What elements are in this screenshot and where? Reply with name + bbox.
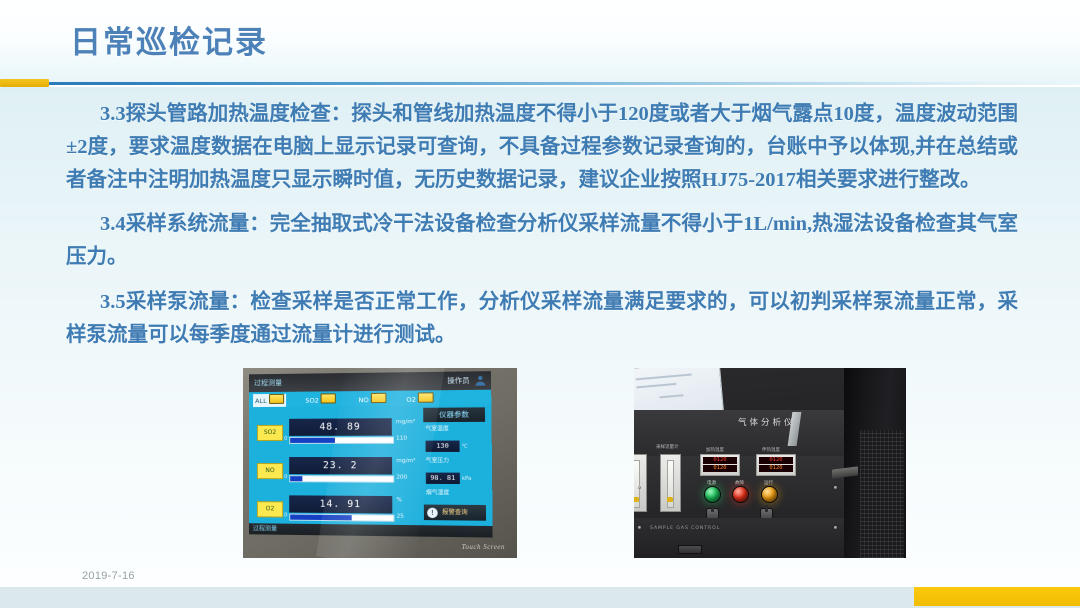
- meter-digits-lower: 0120: [703, 465, 737, 472]
- hmi-tab-all[interactable]: ALL: [253, 394, 286, 407]
- flow-gauge: [634, 454, 647, 512]
- meter-digits-lower: 0120: [759, 465, 793, 472]
- header-divider-blue: [0, 82, 1080, 85]
- cabinet-control-panel: 采样流量计 加热温度 0120 0120 伴热温度 0120 0120 电源 故…: [634, 456, 844, 519]
- gas-tag: O2: [257, 501, 283, 517]
- gas-value: 48. 89: [289, 418, 392, 436]
- hmi-tab-o2[interactable]: O2: [406, 392, 434, 406]
- gas-min-label: 0: [284, 512, 287, 518]
- indicator-lamp-fault: [732, 486, 749, 503]
- slide-date: 2019-7-16: [82, 570, 135, 582]
- gas-min-label: 0: [284, 436, 287, 442]
- hmi-tab-so2-label: SO2: [305, 397, 319, 405]
- gas-value: 23. 2: [289, 457, 392, 474]
- gauge-icon: [418, 392, 434, 402]
- gas-bar: [289, 437, 394, 444]
- photo-row: 过程测量 操作员 ALL SO2 NO O2 SO2: [0, 368, 1080, 560]
- alert-icon: !: [427, 507, 438, 517]
- gas-bar: [289, 514, 394, 522]
- gas-max-label: 110: [396, 435, 407, 443]
- hmi-tab-o2-label: O2: [406, 396, 416, 404]
- gas-min-label: 0: [284, 474, 287, 480]
- parameter-label: 烟气湿度: [426, 489, 484, 499]
- paragraph-3-3: 3.3探头管路加热温度检查：探头和管线加热温度不得小于120度或者大于烟气露点1…: [66, 98, 1018, 197]
- indicator-lamp-power: [704, 486, 721, 503]
- hmi-main-area: SO2 48. 89 0 mg/m³ 110 NO 23. 2 0 mg/m³ …: [249, 405, 493, 537]
- meter-label: 加热温度: [706, 447, 724, 453]
- alarm-query-label: 报警查询: [442, 509, 468, 517]
- panel-screw: [834, 486, 837, 489]
- gas-bar: [289, 475, 394, 483]
- temperature-meter: 0120 0120: [756, 454, 796, 476]
- content-text-block: 3.3探头管路加热温度检查：探头和管线加热温度不得小于120度或者大于烟气露点1…: [66, 98, 1018, 352]
- flow-gauge: [660, 454, 681, 512]
- paragraph-3-5: 3.5采样泵流量：检查采样是否正常工作，分析仪采样流量满足要求的，可以初判采样泵…: [66, 286, 1018, 352]
- hmi-brand-label: Touch Screen: [462, 543, 505, 551]
- gauge-label: 采样流量计: [656, 444, 679, 450]
- photo-gas-analyzer-cabinet: 气体分析仪 采样流量计 加热温度 0120 0120 伴热温度 0: [634, 368, 906, 558]
- user-icon: [474, 374, 487, 387]
- hmi-tab-bar: ALL SO2 NO O2: [249, 390, 491, 407]
- panel-screw: [638, 486, 641, 489]
- parameter-unit: kPa: [462, 476, 471, 482]
- cabinet-door: [844, 368, 906, 558]
- lower-panel-label: SAMPLE GAS CONTROL: [650, 526, 720, 531]
- gas-tag: NO: [257, 463, 283, 479]
- parameter-label: 气室压力: [426, 457, 484, 466]
- gas-tag: SO2: [257, 425, 283, 441]
- panel-screw: [834, 526, 837, 529]
- indicator-lamp-run: [761, 486, 778, 503]
- gas-max-label: 200: [396, 473, 407, 481]
- meter-digits-upper: 0120: [759, 457, 793, 464]
- hmi-tab-all-label: ALL: [255, 397, 267, 405]
- gas-unit-label: mg/m³: [396, 457, 415, 466]
- gas-bar-fill: [290, 515, 351, 521]
- page-title: 日常巡检记录: [70, 17, 268, 62]
- parameter-value: 130: [426, 441, 460, 452]
- gas-max-label: 25: [397, 513, 404, 521]
- cabinet-title-label: 气体分析仪: [738, 416, 796, 428]
- footer-accent-yellow: [914, 587, 1080, 606]
- parameter-item: 气室温度 130℃: [425, 425, 483, 453]
- lower-panel-vent: [678, 545, 702, 554]
- cabinet-mesh-vent: [860, 430, 904, 558]
- cabinet-lower-panel: SAMPLE GAS CONTROL: [634, 518, 844, 558]
- gas-bar-fill: [290, 476, 302, 481]
- gas-reading-row: NO 23. 2 0 mg/m³ 200: [249, 455, 419, 490]
- gas-unit-label: %: [396, 496, 402, 505]
- gauge-icon: [371, 393, 387, 403]
- hmi-tab-no-label: NO: [358, 396, 368, 404]
- slide: 日常巡检记录 3.3探头管路加热温度检查：探头和管线加热温度不得小于120度或者…: [0, 0, 1080, 608]
- hmi-tab-so2[interactable]: SO2: [305, 393, 336, 406]
- gauge-icon: [321, 393, 336, 403]
- parameter-unit: ℃: [462, 444, 468, 450]
- hmi-tab-no[interactable]: NO: [358, 393, 386, 406]
- meter-digits-upper: 0120: [703, 457, 737, 464]
- paragraph-3-4: 3.4采样系统流量：完全抽取式冷干法设备检查分析仪采样流量不得小于1L/min,…: [66, 208, 1018, 274]
- photo-hmi-touch-panel: 过程测量 操作员 ALL SO2 NO O2 SO2: [243, 368, 517, 558]
- hmi-screen: 过程测量 操作员 ALL SO2 NO O2 SO2: [249, 371, 493, 537]
- meter-label: 伴热温度: [762, 447, 780, 453]
- parameter-label: 气室温度: [425, 425, 483, 435]
- hmi-topbar-right-label: 操作员: [447, 371, 470, 390]
- gauge-icon: [269, 394, 284, 404]
- parameter-panel-title: 仪器参数: [423, 407, 485, 422]
- gas-bar-fill: [290, 438, 335, 443]
- parameter-value: 98. 81: [426, 473, 460, 485]
- temperature-meter: 0120 0120: [700, 454, 740, 476]
- hmi-topbar: 过程测量 操作员: [249, 371, 491, 392]
- gas-value: 14. 91: [289, 495, 392, 513]
- alarm-query-button[interactable]: ! 报警查询: [424, 505, 486, 521]
- header-accent-yellow: [0, 79, 49, 87]
- panel-screw: [638, 526, 641, 529]
- gas-unit-label: mg/m³: [396, 418, 415, 427]
- parameter-item: 气室压力 98. 81kPa: [426, 457, 484, 485]
- hmi-topbar-left-label: 过程测量: [254, 374, 282, 392]
- gas-reading-row: SO2 48. 89 0 mg/m³ 110: [249, 416, 418, 451]
